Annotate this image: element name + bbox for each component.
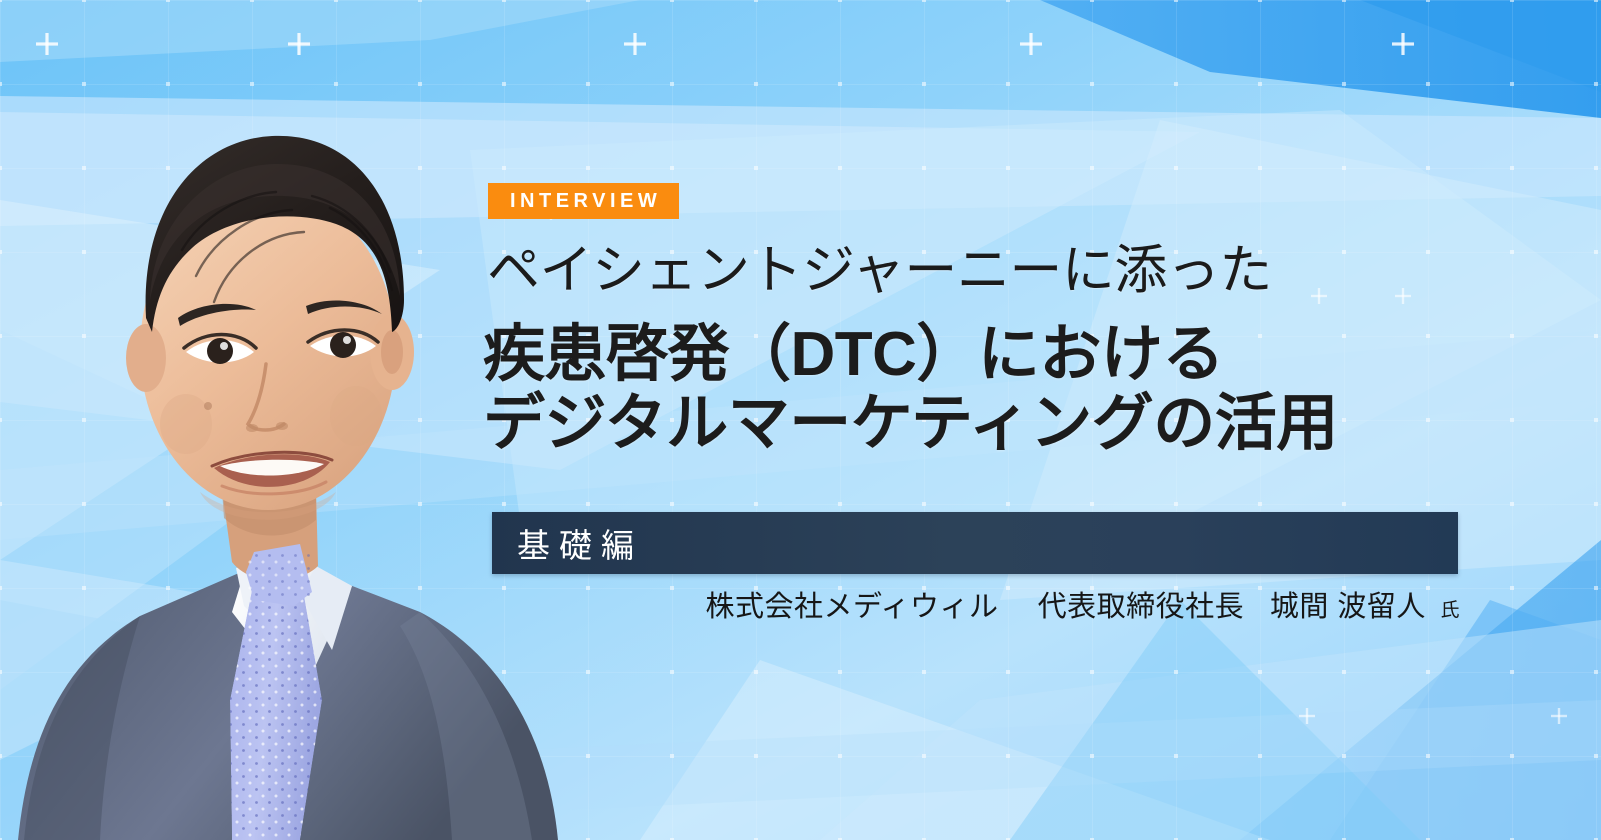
interview-banner: INTERVIEW ペイシェントジャーニーに添った 疾患啓発（DTC）における …: [0, 0, 1601, 840]
byline-company: 株式会社メディウィル: [706, 591, 999, 623]
title-line-1: 疾患啓発（DTC）における: [483, 320, 1338, 389]
byline-honorific: 氏: [1440, 600, 1460, 621]
byline-name: 城間 波留人: [1270, 591, 1426, 623]
section-bar: 基礎編: [492, 512, 1458, 574]
section-bar-label: 基礎編: [517, 519, 643, 567]
page-title: 疾患啓発（DTC）における デジタルマーケティングの活用: [483, 320, 1338, 459]
interview-badge: INTERVIEW: [488, 183, 679, 219]
title-line-2: デジタルマーケティングの活用: [483, 389, 1338, 458]
byline-role: 代表取締役社長: [1038, 591, 1245, 623]
title-subtitle: ペイシェントジャーニーに添った: [487, 243, 1272, 299]
byline: 株式会社メディウィル 代表取締役社長 城間 波留人 氏: [706, 583, 1460, 625]
